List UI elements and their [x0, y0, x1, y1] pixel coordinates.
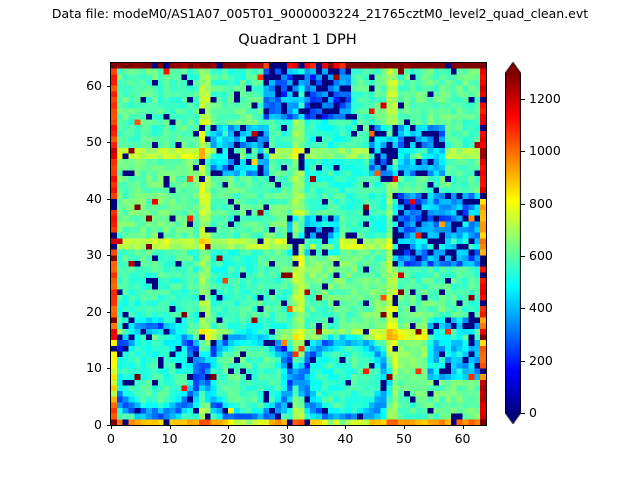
x-tick-mark [463, 425, 464, 429]
x-tick-label: 40 [337, 432, 353, 446]
y-tick-mark [107, 199, 111, 200]
colorbar-tick-mark [521, 256, 525, 257]
colorbar-tick-label: 800 [529, 197, 553, 211]
x-tick-mark [111, 425, 112, 429]
colorbar-tick-mark [521, 361, 525, 362]
colorbar-tick-label: 200 [529, 354, 553, 368]
y-tick-label: 60 [64, 79, 102, 93]
y-tick-mark [107, 86, 111, 87]
colorbar-tick-label: 1000 [529, 144, 561, 158]
x-tick-mark [170, 425, 171, 429]
y-tick-mark [107, 255, 111, 256]
y-tick-mark [107, 425, 111, 426]
x-tick-mark [228, 425, 229, 429]
y-tick-label: 10 [64, 361, 102, 375]
colorbar-tick-mark [521, 308, 525, 309]
colorbar-tick-mark [521, 413, 525, 414]
x-tick-label: 10 [162, 432, 178, 446]
x-tick-label: 50 [396, 432, 412, 446]
x-tick-label: 0 [107, 432, 115, 446]
detector-pixel-heatmap [111, 63, 486, 425]
colorbar [505, 62, 521, 424]
heatmap-axes [110, 62, 487, 426]
y-tick-label: 30 [64, 248, 102, 262]
colorbar-tick-mark [521, 151, 525, 152]
colorbar-tick-label: 1200 [529, 92, 561, 106]
y-tick-label: 50 [64, 135, 102, 149]
x-tick-mark [345, 425, 346, 429]
y-tick-label: 20 [64, 305, 102, 319]
colorbar-tick-label: 600 [529, 249, 553, 263]
y-tick-mark [107, 142, 111, 143]
colorbar-gradient [505, 62, 521, 424]
colorbar-tick-mark [521, 204, 525, 205]
x-tick-mark [404, 425, 405, 429]
x-tick-label: 20 [220, 432, 236, 446]
y-tick-mark [107, 368, 111, 369]
colorbar-tick-label: 400 [529, 301, 553, 315]
y-tick-label: 40 [64, 192, 102, 206]
x-tick-label: 30 [279, 432, 295, 446]
colorbar-tick-mark [521, 99, 525, 100]
y-tick-label: 0 [64, 418, 102, 432]
colorbar-tick-label: 0 [529, 406, 537, 420]
data-file-suptitle: Data file: modeM0/AS1A07_005T01_90000032… [0, 6, 640, 21]
page-title: Quadrant 1 DPH [110, 31, 485, 49]
x-tick-label: 60 [455, 432, 471, 446]
matplotlib-figure: Data file: modeM0/AS1A07_005T01_90000032… [0, 0, 640, 480]
x-tick-mark [287, 425, 288, 429]
y-tick-mark [107, 312, 111, 313]
